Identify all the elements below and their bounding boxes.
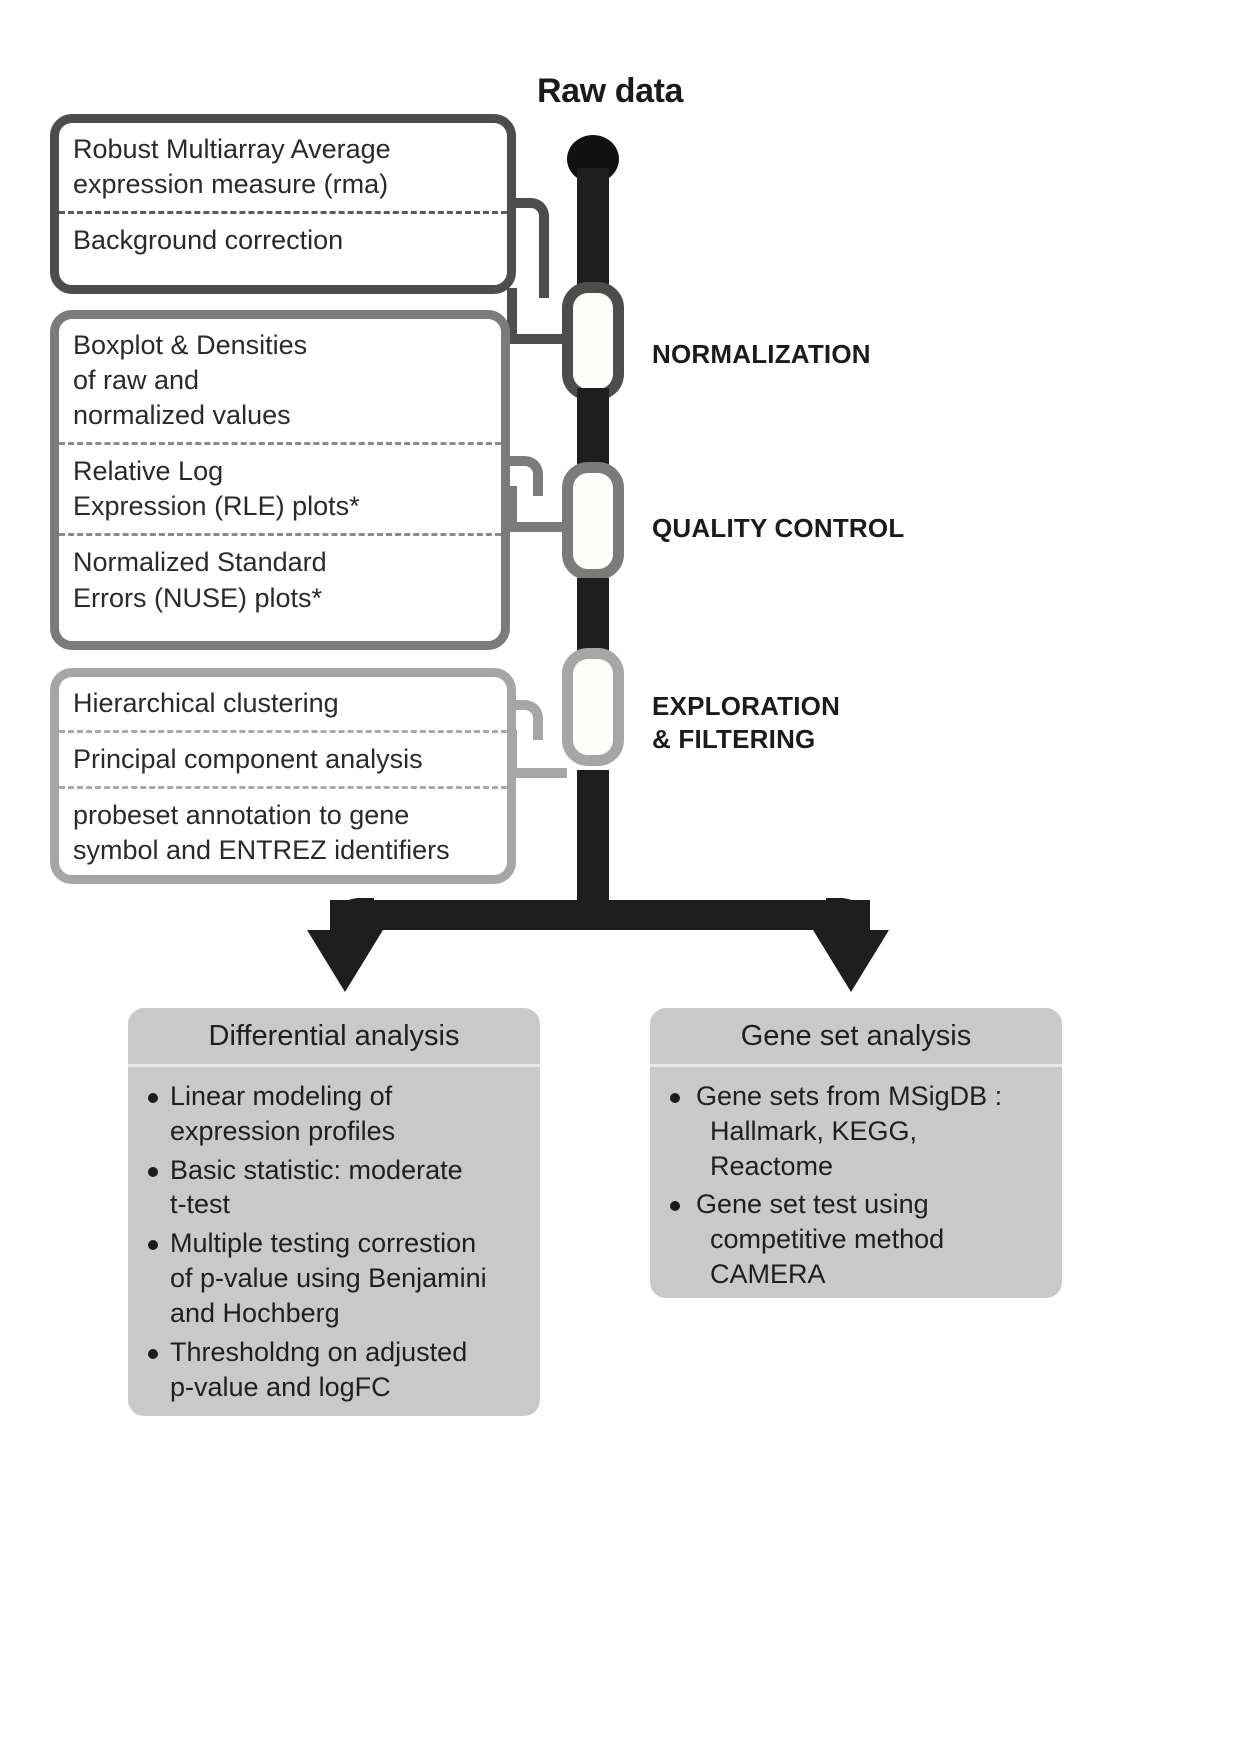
panel-row-line: Robust Multiarray Average — [73, 132, 493, 167]
panel-row: Relative Log Expression (RLE) plots* — [59, 442, 501, 533]
list-item-line: Gene sets from MSigDB : — [696, 1081, 1002, 1111]
list-item: Gene set test using competitive method C… — [666, 1187, 1046, 1291]
list-item: Gene sets from MSigDB : Hallmark, KEGG, … — [666, 1079, 1046, 1183]
output-box-gene-set-analysis: Gene set analysis Gene sets from MSigDB … — [650, 1008, 1062, 1298]
panel-normalization-content: Robust Multiarray Average expression mea… — [59, 123, 507, 267]
output-title: Differential analysis — [128, 1008, 540, 1067]
panel-quality-control-content: Boxplot & Densities of raw and normalize… — [59, 319, 501, 625]
spine-segment-bottom — [577, 770, 609, 900]
list-item-line: Hallmark, KEGG, — [696, 1114, 1046, 1149]
stage-label-normalization: NORMALIZATION — [652, 338, 871, 371]
arrow-head-right-icon — [813, 930, 889, 992]
stage-label-quality-control: QUALITY CONTROL — [652, 512, 904, 545]
stage-capsule-quality-control — [562, 462, 624, 580]
list-item-line: expression profiles — [170, 1116, 395, 1146]
list-item-line: t-test — [170, 1189, 230, 1219]
panel-row-line: Relative Log — [73, 454, 487, 489]
stage-capsule-normalization — [562, 282, 624, 400]
panel-row: Hierarchical clustering — [59, 677, 507, 730]
stage-capsule-exploration — [562, 648, 624, 766]
stage-label-exploration: EXPLORATION & FILTERING — [652, 690, 952, 757]
panel-row-line: Normalized Standard — [73, 545, 487, 580]
list-item-line: Thresholdng on adjusted — [170, 1337, 467, 1367]
list-item-line: and Hochberg — [170, 1298, 340, 1328]
arrow-head-left-icon — [307, 930, 383, 992]
spine-segment-1 — [577, 388, 609, 470]
panel-quality-control: Boxplot & Densities of raw and normalize… — [50, 310, 510, 650]
panel-row-line: probeset annotation to gene — [73, 798, 493, 833]
flowchart-canvas: Raw data NORMALIZATION QUALITY CONTROL E… — [0, 0, 1240, 1753]
stage-label-exploration-line1: EXPLORATION — [652, 690, 952, 723]
list-item: Basic statistic: moderate t-test — [144, 1153, 524, 1223]
panel-row: Principal component analysis — [59, 730, 507, 786]
panel-row: Background correction — [59, 211, 507, 267]
output-box-differential-analysis: Differential analysis Linear modeling of… — [128, 1008, 540, 1416]
panel-row: probeset annotation to gene symbol and E… — [59, 786, 507, 877]
output-title: Gene set analysis — [650, 1008, 1062, 1067]
list-item-line: of p-value using Benjamini — [170, 1263, 487, 1293]
spine-segment-2 — [577, 578, 609, 654]
panel-row-line: of raw and — [73, 363, 487, 398]
page-title: Raw data — [470, 72, 750, 111]
panel-row: Robust Multiarray Average expression mea… — [59, 123, 507, 211]
list-item-line: competitive method — [696, 1222, 1046, 1257]
output-bullet-list: Linear modeling of expression profiles B… — [128, 1067, 540, 1420]
panel-row-line: Background correction — [73, 223, 493, 258]
list-item: Linear modeling of expression profiles — [144, 1079, 524, 1149]
connector-quality-lower — [507, 486, 567, 532]
panel-row-line: Expression (RLE) plots* — [73, 489, 487, 524]
list-item-line: Gene set test using — [696, 1189, 929, 1219]
panel-row-line: Hierarchical clustering — [73, 686, 493, 721]
spine-segment-top — [577, 168, 609, 296]
list-item: Multiple testing correstion of p-value u… — [144, 1226, 524, 1330]
panel-row-line: symbol and ENTREZ identifiers — [73, 833, 493, 868]
list-item-line: p-value and logFC — [170, 1372, 391, 1402]
list-item-line: Reactome — [696, 1149, 1046, 1184]
stage-label-exploration-line2: & FILTERING — [652, 723, 952, 756]
panel-exploration: Hierarchical clustering Principal compon… — [50, 668, 516, 884]
panel-exploration-content: Hierarchical clustering Principal compon… — [59, 677, 507, 877]
panel-row: Normalized Standard Errors (NUSE) plots* — [59, 533, 501, 624]
list-item-line: CAMERA — [696, 1257, 1046, 1292]
connector-exploration-lower — [507, 730, 567, 778]
panel-row-line: Principal component analysis — [73, 742, 493, 777]
list-item-line: Linear modeling of — [170, 1081, 392, 1111]
panel-normalization: Robust Multiarray Average expression mea… — [50, 114, 516, 294]
panel-row-line: normalized values — [73, 398, 487, 433]
list-item: Thresholdng on adjusted p-value and logF… — [144, 1335, 524, 1405]
list-item-line: Basic statistic: moderate — [170, 1155, 463, 1185]
panel-row-line: Boxplot & Densities — [73, 328, 487, 363]
connector-normalization-lower — [507, 288, 569, 344]
output-bullet-list: Gene sets from MSigDB : Hallmark, KEGG, … — [650, 1067, 1062, 1308]
list-item-line: Multiple testing correstion — [170, 1228, 476, 1258]
panel-row-line: Errors (NUSE) plots* — [73, 581, 487, 616]
fork-connector — [330, 900, 870, 930]
panel-row-line: expression measure (rma) — [73, 167, 493, 202]
panel-row: Boxplot & Densities of raw and normalize… — [59, 319, 501, 442]
